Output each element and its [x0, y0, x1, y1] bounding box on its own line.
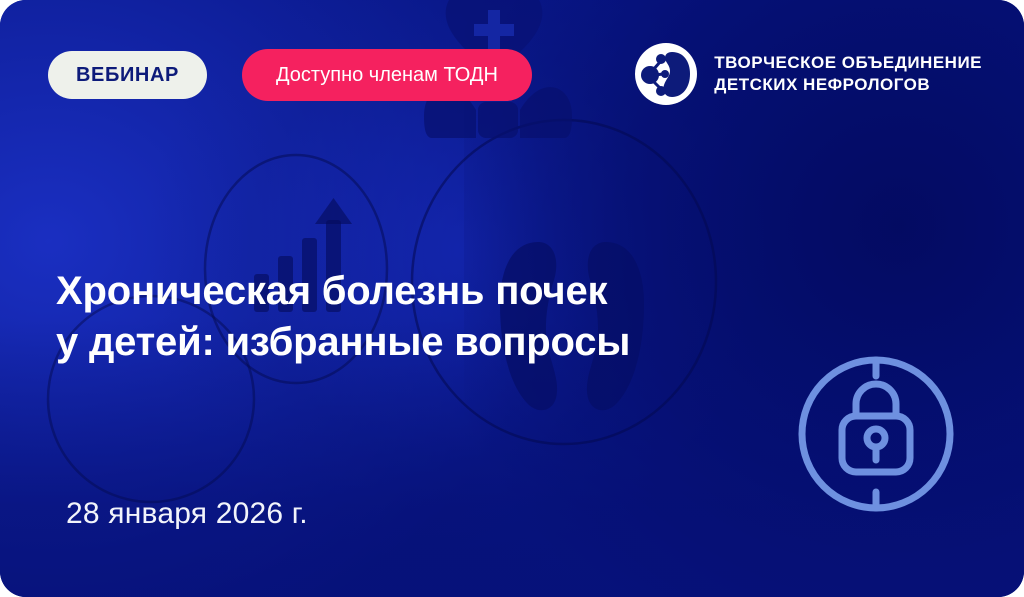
organization-logo[interactable]: ТВОРЧЕСКОЕ ОБЪЕДИНЕНИЕ ДЕТСКИХ НЕФРОЛОГО…	[634, 42, 982, 106]
webinar-title: Хроническая болезнь почек у детей: избра…	[56, 266, 756, 368]
kidney-molecule-logo-icon	[634, 42, 698, 106]
logo-line-2: ДЕТСКИХ НЕФРОЛОГОВ	[714, 74, 982, 96]
organization-name: ТВОРЧЕСКОЕ ОБЪЕДИНЕНИЕ ДЕТСКИХ НЕФРОЛОГО…	[714, 52, 982, 97]
title-line-1: Хроническая болезнь почек	[56, 266, 756, 317]
badge-webinar[interactable]: ВЕБИНАР	[48, 51, 207, 99]
webinar-date: 28 января 2026 г.	[66, 497, 308, 531]
webinar-banner-card: ВЕБИНАР Доступно членам ТОДН ТВОРЧЕСКОЕ …	[0, 0, 1024, 597]
logo-line-1: ТВОРЧЕСКОЕ ОБЪЕДИНЕНИЕ	[714, 52, 982, 74]
badge-members-access[interactable]: Доступно членам ТОДН	[242, 49, 532, 101]
title-line-2: у детей: избранные вопросы	[56, 317, 756, 368]
